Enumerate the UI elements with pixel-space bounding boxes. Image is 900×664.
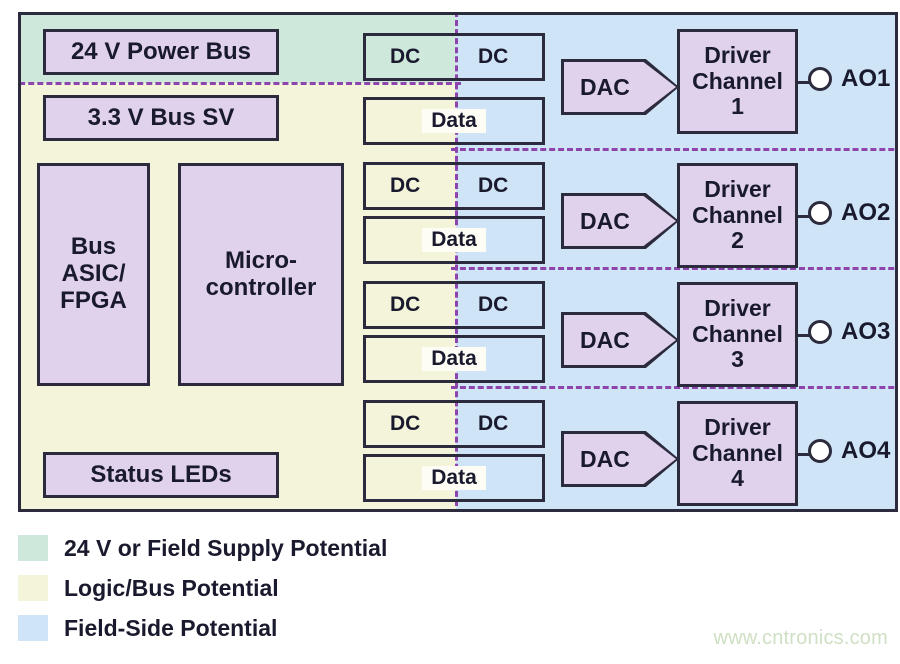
block-microcontroller-label: Micro- controller <box>206 248 317 302</box>
isolator-dc-4-left-label: DC <box>390 412 420 436</box>
isolator-dc-1: DC DC <box>363 33 545 81</box>
isolator-dc-1-left-label: DC <box>390 45 420 69</box>
driver-channel-1: Driver Channel 1 <box>677 29 798 134</box>
isolator-dc-2-left-label: DC <box>390 174 420 198</box>
isolation-barrier-channel-2-3 <box>451 267 898 270</box>
block-bus-sv-label: 3.3 V Bus SV <box>88 105 235 132</box>
isolator-data-1: Data <box>363 97 545 145</box>
isolator-dc-2: DC DC <box>363 162 545 210</box>
isolator-data-3-label: Data <box>422 347 486 371</box>
isolator-data-2: Data <box>363 216 545 264</box>
dac-3-label: DAC <box>564 327 630 354</box>
block-bus-sv: 3.3 V Bus SV <box>43 95 279 141</box>
legend-swatch-logic <box>18 575 48 601</box>
driver-channel-3: Driver Channel 3 <box>677 282 798 387</box>
isolation-barrier-channel-3-4 <box>451 386 898 389</box>
ao-4-label: AO4 <box>841 437 890 465</box>
isolator-data-3: Data <box>363 335 545 383</box>
legend-swatch-field <box>18 615 48 641</box>
isolator-data-2-label: Data <box>422 228 486 252</box>
legend-label-supply: 24 V or Field Supply Potential <box>64 535 387 562</box>
isolator-dc-1-right-label: DC <box>478 45 508 69</box>
watermark: www.cntronics.com <box>713 627 888 650</box>
legend: 24 V or Field Supply Potential Logic/Bus… <box>18 528 618 648</box>
isolator-dc-3-right-label: DC <box>478 293 508 317</box>
block-power-bus: 24 V Power Bus <box>43 29 279 75</box>
legend-item-logic: Logic/Bus Potential <box>18 568 618 608</box>
driver-channel-2-label: Driver Channel 2 <box>692 177 783 254</box>
block-bus-asic-fpga: Bus ASIC/ FPGA <box>37 163 150 386</box>
isolator-dc-4-right-label: DC <box>478 412 508 436</box>
ao-1-label: AO1 <box>841 65 890 93</box>
ao-2-terminal[interactable] <box>808 201 832 225</box>
ao-3-terminal[interactable] <box>808 320 832 344</box>
isolator-dc-4: DC DC <box>363 400 545 448</box>
dac-1-label: DAC <box>564 74 630 101</box>
ao-4-terminal[interactable] <box>808 439 832 463</box>
isolator-dc-3-left-label: DC <box>390 293 420 317</box>
block-microcontroller: Micro- controller <box>178 163 344 386</box>
isolator-dc-2-right-label: DC <box>478 174 508 198</box>
block-status-leds-label: Status LEDs <box>90 462 231 489</box>
isolator-dc-3: DC DC <box>363 281 545 329</box>
dac-4-label: DAC <box>564 446 630 473</box>
legend-item-field: Field-Side Potential <box>18 608 618 648</box>
isolation-barrier-supply-logic <box>18 82 461 85</box>
isolator-data-1-label: Data <box>422 109 486 133</box>
legend-item-supply: 24 V or Field Supply Potential <box>18 528 618 568</box>
block-bus-asic-fpga-label: Bus ASIC/ FPGA <box>60 234 127 315</box>
block-diagram: 24 V Power Bus 3.3 V Bus SV Bus ASIC/ FP… <box>18 12 898 512</box>
isolator-data-4-label: Data <box>422 466 486 490</box>
legend-swatch-supply <box>18 535 48 561</box>
driver-channel-2: Driver Channel 2 <box>677 163 798 268</box>
ao-3-label: AO3 <box>841 318 890 346</box>
block-power-bus-label: 24 V Power Bus <box>71 39 251 66</box>
driver-channel-4-label: Driver Channel 4 <box>692 415 783 492</box>
ao-2-label: AO2 <box>841 199 890 227</box>
ao-1-terminal[interactable] <box>808 67 832 91</box>
isolator-data-4: Data <box>363 454 545 502</box>
legend-label-field: Field-Side Potential <box>64 615 277 642</box>
dac-2-label: DAC <box>564 208 630 235</box>
block-status-leds: Status LEDs <box>43 452 279 498</box>
legend-label-logic: Logic/Bus Potential <box>64 575 279 602</box>
driver-channel-1-label: Driver Channel 1 <box>692 43 783 120</box>
isolation-barrier-channel-1-2 <box>451 148 898 151</box>
driver-channel-4: Driver Channel 4 <box>677 401 798 506</box>
driver-channel-3-label: Driver Channel 3 <box>692 296 783 373</box>
